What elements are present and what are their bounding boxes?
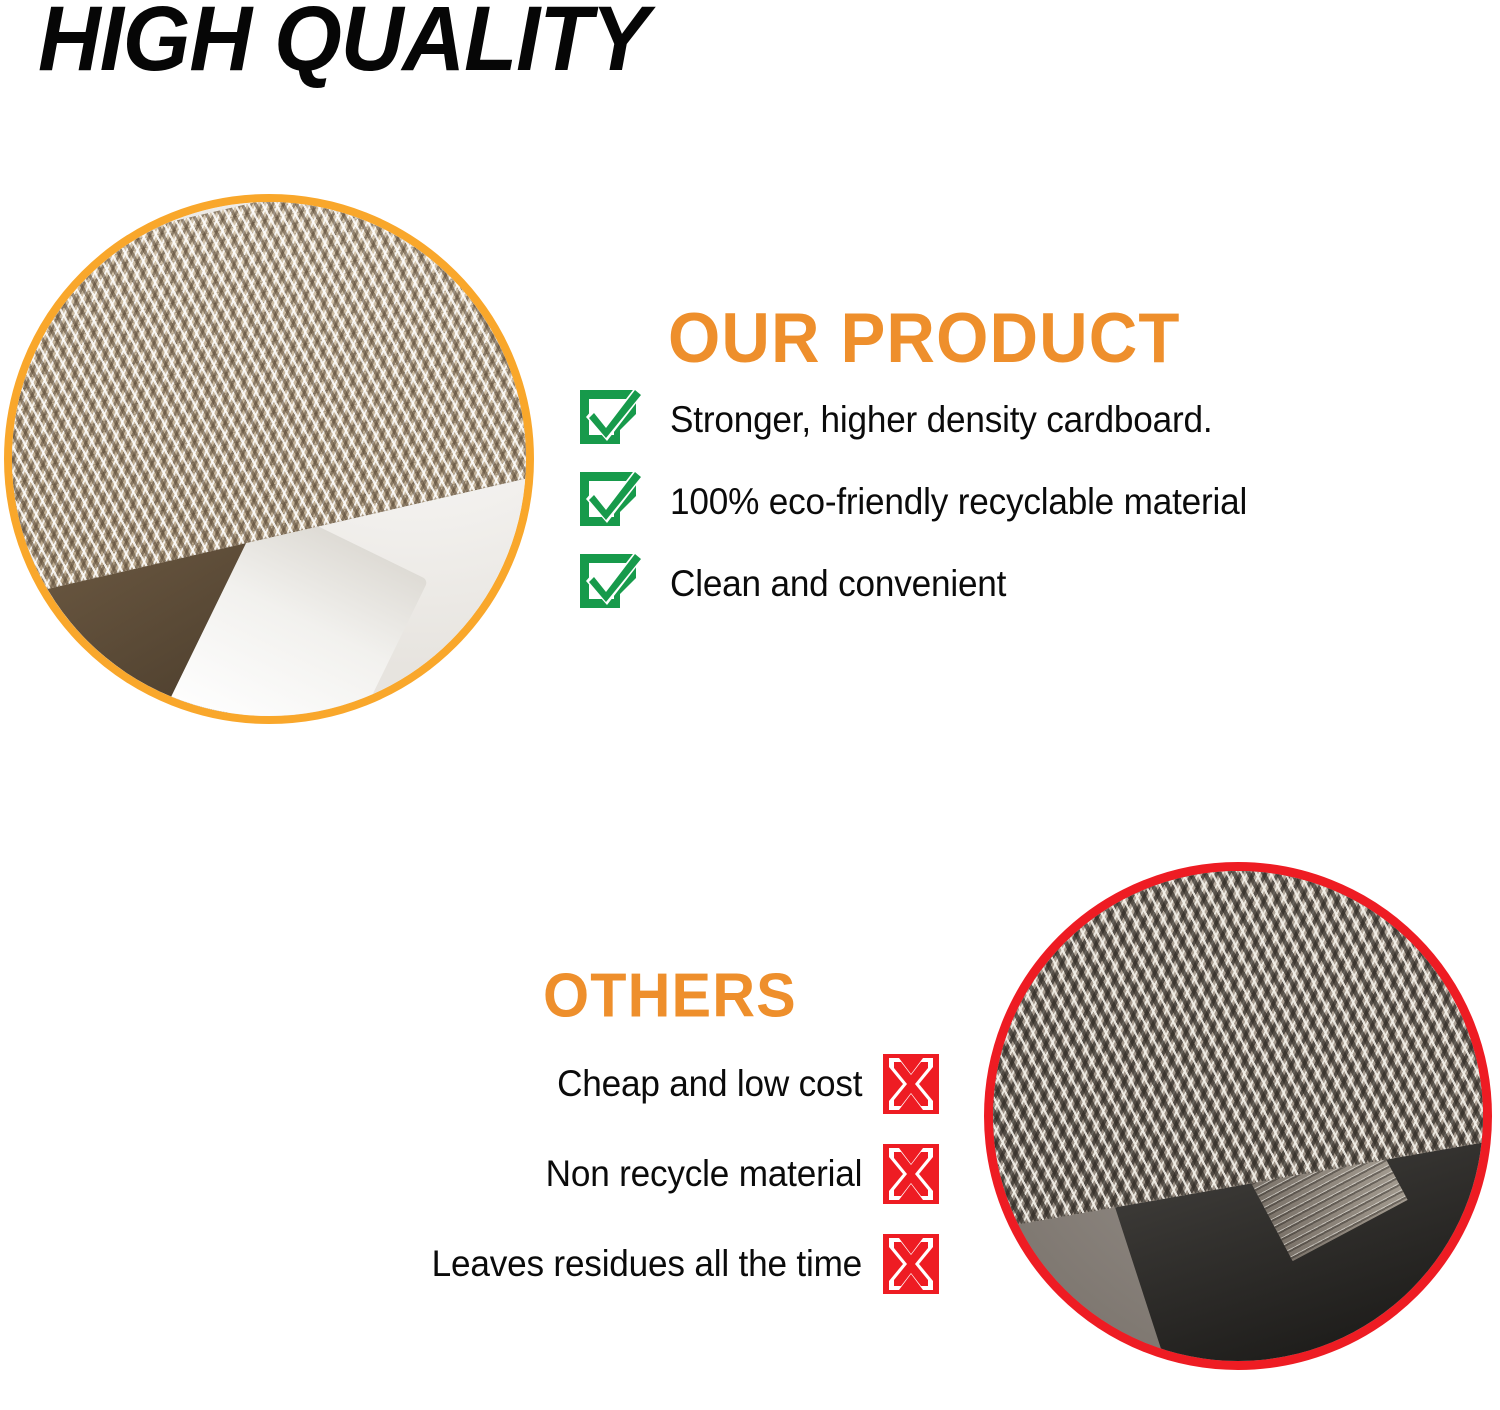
our-product-photo-inner	[12, 202, 526, 716]
list-item-label: Cheap and low cost	[557, 1063, 862, 1105]
check-icon	[576, 384, 648, 456]
our-product-benefit-list: Stronger, higher density cardboard. 100%…	[576, 382, 1376, 628]
list-item-label: Clean and convenient	[670, 563, 1006, 605]
cross-icon	[882, 1143, 940, 1205]
cross-icon	[882, 1233, 940, 1295]
list-item: Clean and convenient	[576, 546, 1376, 622]
our-product-heading: OUR PRODUCT	[668, 303, 1181, 374]
others-drawback-list: Cheap and low cost Non recycle material	[330, 1046, 940, 1316]
others-photo-inner	[993, 871, 1483, 1361]
list-item: Leaves residues all the time	[330, 1226, 940, 1302]
list-item-label: 100% eco-friendly recyclable material	[670, 481, 1247, 523]
others-photo	[984, 862, 1492, 1370]
list-item: Cheap and low cost	[330, 1046, 940, 1122]
list-item-label: Stronger, higher density cardboard.	[670, 399, 1212, 441]
list-item: Non recycle material	[330, 1136, 940, 1212]
others-heading: OTHERS	[543, 965, 797, 1027]
check-icon	[576, 466, 648, 538]
page-title: HIGH QUALITY	[38, 0, 648, 86]
cross-icon	[882, 1053, 940, 1115]
infographic-page: HIGH QUALITY OUR PRODUCT	[0, 0, 1500, 1410]
check-icon	[576, 548, 648, 620]
list-item-label: Leaves residues all the time	[432, 1243, 862, 1285]
list-item-label: Non recycle material	[545, 1153, 862, 1195]
our-product-photo	[4, 194, 534, 724]
list-item: 100% eco-friendly recyclable material	[576, 464, 1376, 540]
list-item: Stronger, higher density cardboard.	[576, 382, 1376, 458]
